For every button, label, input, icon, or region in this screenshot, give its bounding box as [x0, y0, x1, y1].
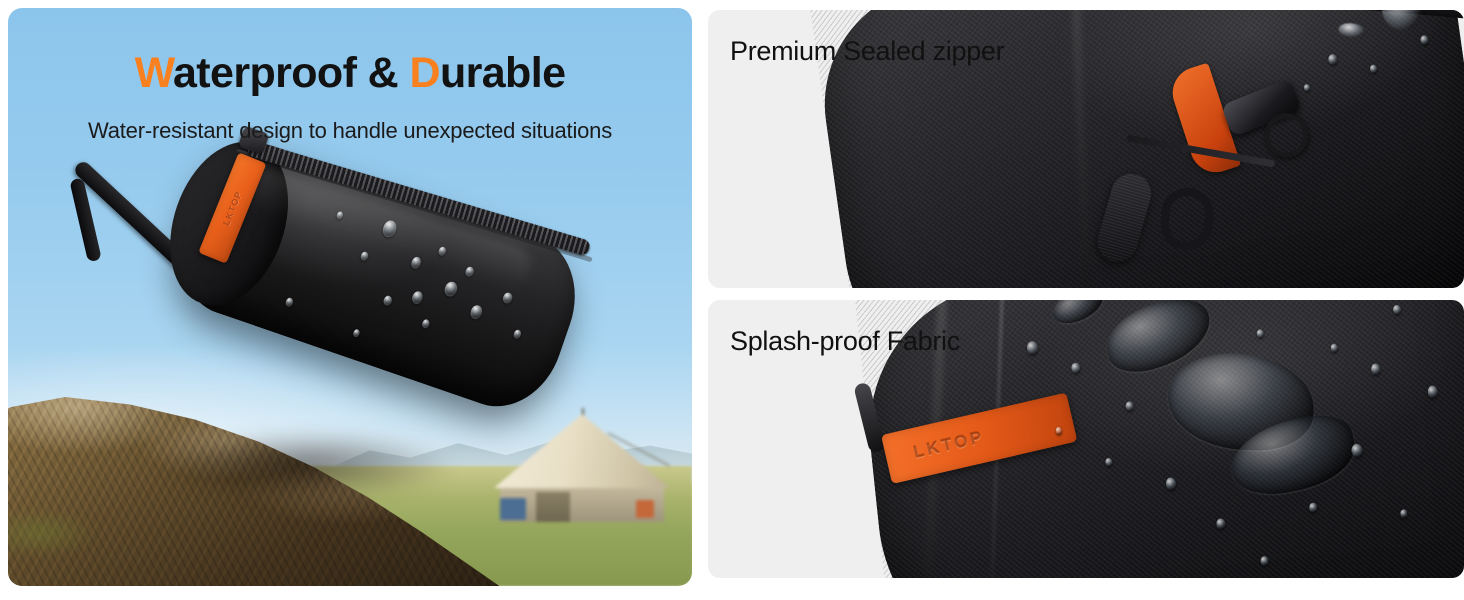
- panel-title-splash-proof-fabric: Splash-proof Fabric: [730, 326, 960, 357]
- hero-headline: Waterproof & Durable: [8, 52, 692, 95]
- headline-post: urable: [440, 49, 565, 97]
- tent-orange-item: [636, 500, 654, 518]
- headline-accent-w: W: [135, 49, 173, 97]
- feature-panel-splash-proof-fabric: LKTOP Splash-proof Fabric: [708, 300, 1464, 578]
- headline-accent-d: D: [409, 49, 439, 97]
- rock-moss: [8, 508, 98, 558]
- bag-brand-tab-label: LKTOP: [221, 189, 244, 226]
- brand-tab-label: LKTOP: [912, 427, 987, 463]
- hero-panel: LKTOP Waterproof & Durable Water-resista…: [8, 8, 692, 586]
- product-feature-banner: LKTOP Waterproof & Durable Water-resista…: [0, 0, 1464, 600]
- panel-title-sealed-zipper: Premium Sealed zipper: [730, 36, 1004, 67]
- tent-door: [536, 492, 570, 522]
- hero-subtitle: Water-resistant design to handle unexpec…: [8, 118, 692, 144]
- headline-mid: aterproof &: [173, 49, 409, 97]
- feature-panel-sealed-zipper: Premium Sealed zipper: [708, 10, 1464, 288]
